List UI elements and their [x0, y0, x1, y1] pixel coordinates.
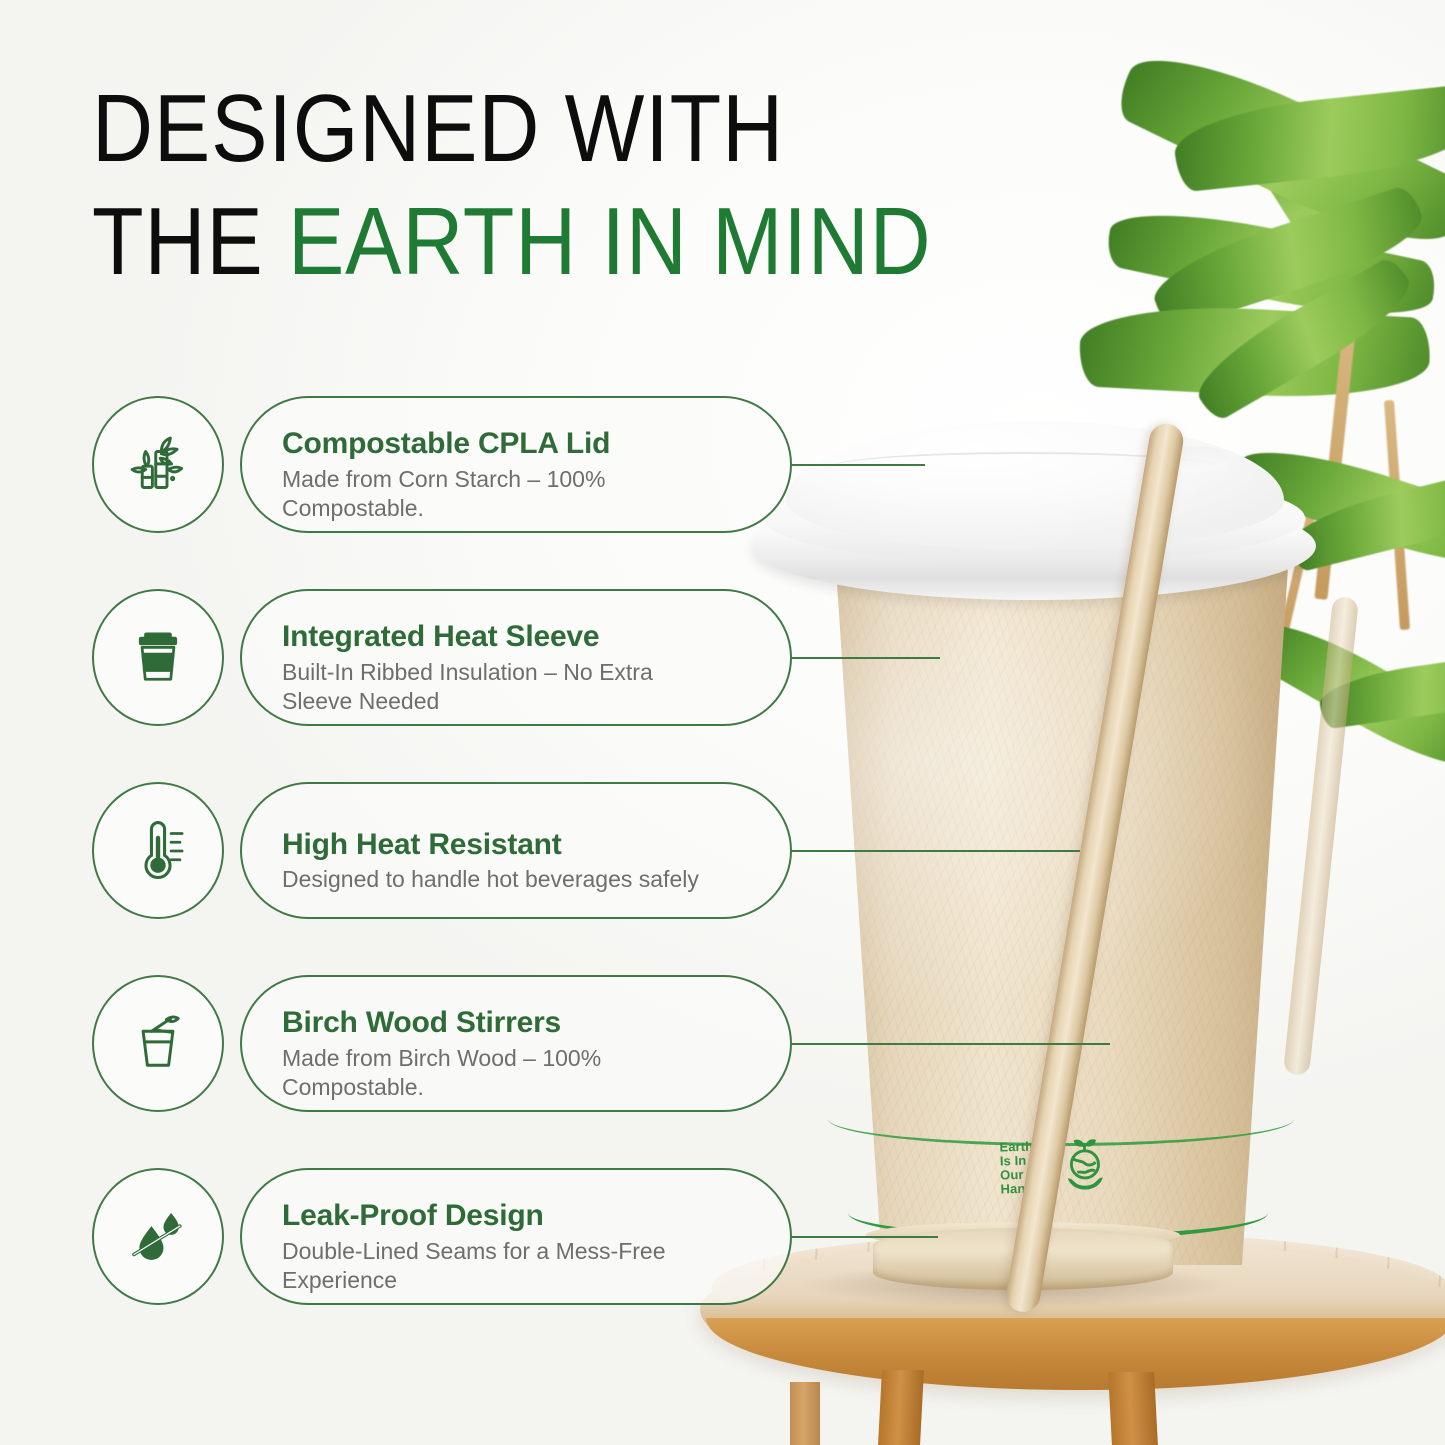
bamboo-leaf-icon	[1317, 652, 1445, 729]
bamboo-leaf-icon	[1219, 75, 1409, 328]
wooden-table-top	[700, 1240, 1445, 1390]
feature-pill[interactable]: Leak-Proof Design Double-Lined Seams for…	[240, 1168, 792, 1305]
birch-wood-stirrer	[1004, 421, 1186, 1314]
feature-pill[interactable]: Integrated Heat Sleeve Built-In Ribbed I…	[240, 589, 792, 726]
cup-logo-text: Earth Is In Our Hands™	[999, 1139, 1048, 1196]
callout-connector-line	[790, 657, 940, 659]
table-leg	[1108, 1372, 1158, 1445]
feature-item-leak-proof-design[interactable]: Leak-Proof Design Double-Lined Seams for…	[92, 1168, 792, 1305]
product-infographic: Earth Is In Our Hands™ DESIGNE	[0, 0, 1445, 1445]
bamboo-leaf-icon	[1186, 254, 1423, 424]
feature-icon-circle	[92, 396, 224, 533]
feature-item-compostable-cpla-lid[interactable]: Compostable CPLA Lid Made from Corn Star…	[92, 396, 792, 533]
cup-lid-seam	[828, 452, 1220, 484]
feature-item-integrated-heat-sleeve[interactable]: Integrated Heat Sleeve Built-In Ribbed I…	[92, 589, 792, 726]
globe-sprout-in-hands-icon	[1054, 1134, 1118, 1198]
cup-lid-rim-inner	[763, 472, 1305, 564]
bamboo-stem	[1274, 471, 1326, 658]
bamboo-leaf-icon	[1171, 84, 1445, 193]
cup-logo-line-4: Hands™	[1000, 1181, 1048, 1196]
cup-logo-line-1: Earth	[999, 1139, 1047, 1154]
feature-icon-circle	[92, 1168, 224, 1305]
cup-lid-dome	[786, 421, 1284, 549]
page-title: DESIGNED WITH THE EARTH IN MIND	[92, 72, 1025, 299]
feature-pill[interactable]: Birch Wood Stirrers Made from Birch Wood…	[240, 975, 792, 1112]
headline-line-2-black: THE	[92, 188, 288, 295]
headline-line-2: THE EARTH IN MIND	[92, 185, 1025, 298]
wooden-table-surface	[712, 1232, 1445, 1342]
thermometer-icon	[123, 816, 193, 886]
glass-with-stirrer-icon	[124, 1010, 192, 1078]
cup-logo-line-2: Is In	[1000, 1153, 1048, 1168]
feature-title: High Heat Resistant	[282, 828, 756, 862]
feature-title: Leak-Proof Design	[282, 1199, 756, 1233]
callout-connector-line	[790, 464, 925, 466]
no-leak-droplets-icon	[123, 1202, 193, 1272]
bamboo-leaf-icon	[1230, 432, 1445, 586]
feature-description: Made from Corn Starch – 100% Compostable…	[282, 465, 712, 524]
feature-description: Made from Birch Wood – 100% Compostable.	[282, 1044, 712, 1103]
cup-shadow	[800, 1262, 1230, 1308]
cup-logo-line-3: Our	[1000, 1167, 1048, 1182]
feature-item-birch-wood-stirrers[interactable]: Birch Wood Stirrers Made from Birch Wood…	[92, 975, 792, 1112]
feature-title: Integrated Heat Sleeve	[282, 620, 756, 654]
feature-description: Double-Lined Seams for a Mess-Free Exper…	[282, 1237, 712, 1296]
cup-green-stripe	[848, 1186, 1268, 1240]
callout-connector-line	[790, 1043, 1110, 1045]
headline-line-2-accent: EARTH IN MIND	[288, 188, 932, 295]
feature-item-high-heat-resistant[interactable]: High Heat Resistant Designed to handle h…	[92, 782, 792, 919]
kraft-paper-cup-body	[812, 545, 1312, 1265]
bamboo-stem	[1314, 300, 1358, 600]
bamboo-leaf-icon	[1283, 468, 1445, 574]
sugarcane-stalks-icon	[122, 429, 194, 501]
cup-brand-logo: Earth Is In Our Hands™	[999, 1134, 1117, 1199]
wooden-table-edge	[706, 1318, 1445, 1390]
coffee-cup-sleeve-icon	[124, 624, 192, 692]
feature-title: Compostable CPLA Lid	[282, 427, 756, 461]
birch-stirrer-secondary	[1283, 596, 1359, 1076]
feature-icon-circle	[92, 975, 224, 1112]
table-leg	[790, 1382, 820, 1445]
feature-pill[interactable]: High Heat Resistant Designed to handle h…	[240, 782, 792, 919]
feature-list: Compostable CPLA Lid Made from Corn Star…	[92, 396, 792, 1305]
callout-connector-line	[790, 1236, 938, 1238]
bamboo-leaf-icon	[1145, 183, 1432, 332]
bamboo-leaf-icon	[1240, 604, 1445, 786]
feature-icon-circle	[92, 589, 224, 726]
headline-line-1: DESIGNED WITH	[92, 72, 1025, 185]
cup-lid-sip-hole	[1156, 446, 1230, 472]
bamboo-leaf-icon	[1103, 196, 1440, 333]
table-leg	[878, 1370, 924, 1445]
feature-description: Built-In Ribbed Insulation – No Extra Sl…	[282, 658, 712, 717]
feature-icon-circle	[92, 782, 224, 919]
bamboo-stem	[1384, 400, 1410, 630]
bamboo-leaf-icon	[1110, 30, 1445, 271]
cup-lid-rim	[752, 492, 1316, 600]
callout-connector-line	[790, 850, 1080, 852]
cup-green-stripe	[828, 1092, 1294, 1146]
feature-title: Birch Wood Stirrers	[282, 1006, 756, 1040]
bamboo-leaf-icon	[1078, 300, 1432, 404]
feature-pill[interactable]: Compostable CPLA Lid Made from Corn Star…	[240, 396, 792, 533]
feature-description: Designed to handle hot beverages safely	[282, 865, 712, 894]
